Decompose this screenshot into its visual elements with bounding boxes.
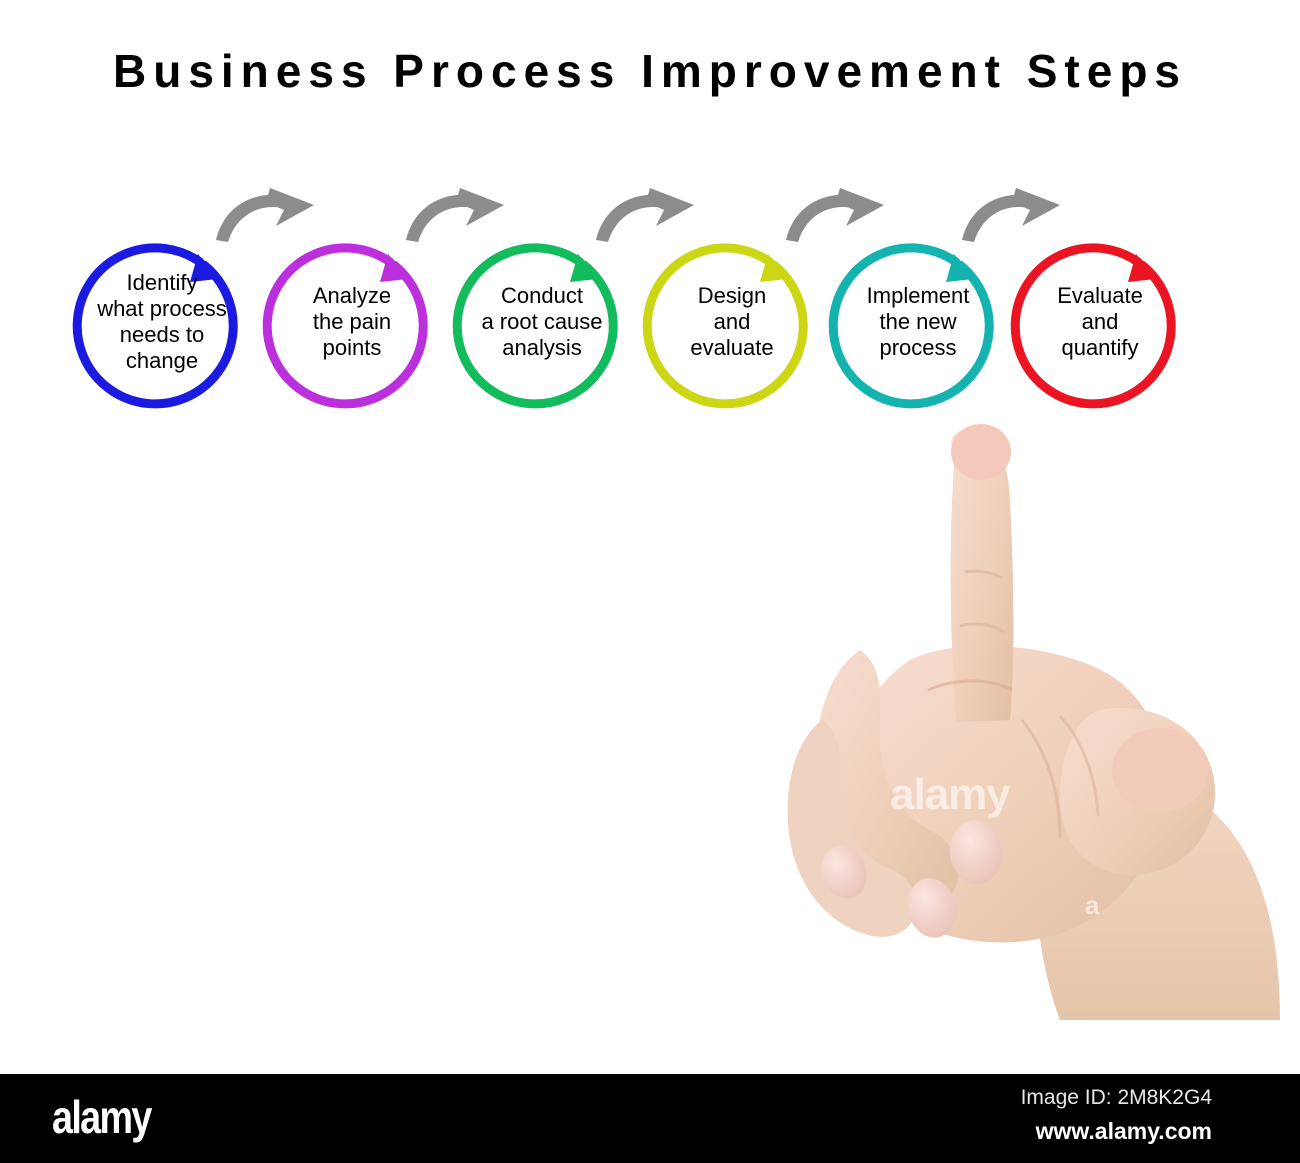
alamy-url-text: www.alamy.com — [1036, 1118, 1212, 1145]
process-step-2[interactable]: Analyze the pain points — [262, 232, 442, 412]
screenshot-canvas: Business Process Improvement Steps — [0, 0, 1300, 1163]
process-step-5[interactable]: Implement the new process — [828, 232, 1008, 412]
process-flow-diagram: Identify what process needs to change An… — [0, 0, 1300, 460]
step-circle-arrow-6 — [1010, 232, 1190, 412]
step-circle-arrow-5 — [828, 232, 1008, 412]
step-circle-arrow-3 — [452, 232, 632, 412]
image-id-text: Image ID: 2M8K2G4 — [1021, 1086, 1212, 1110]
step-circle-arrow-1 — [72, 232, 252, 412]
process-step-6[interactable]: Evaluate and quantify — [1010, 232, 1190, 412]
process-step-1[interactable]: Identify what process needs to change — [72, 232, 252, 412]
alamy-logo: alamy — [52, 1090, 151, 1144]
step-circle-arrow-4 — [642, 232, 822, 412]
step-circle-arrow-2 — [262, 232, 442, 412]
hand-photo — [760, 420, 1280, 1020]
alamy-footer-bar: alamy Image ID: 2M8K2G4 www.alamy.com — [0, 1074, 1300, 1163]
process-step-4[interactable]: Design and evaluate — [642, 232, 822, 412]
process-step-3[interactable]: Conduct a root cause analysis — [452, 232, 632, 412]
